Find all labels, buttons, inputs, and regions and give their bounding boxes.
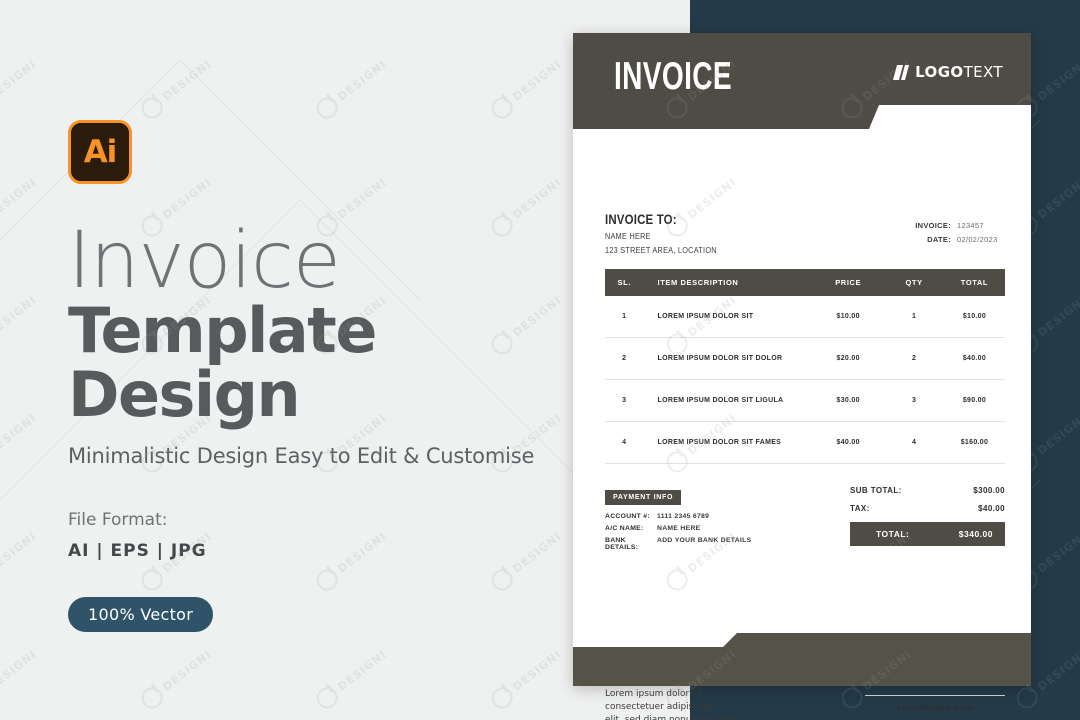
payment-bank-label: BANK DETAILS: xyxy=(605,537,657,551)
invoice-header: INVOICE LOGOTEXT xyxy=(573,33,1031,129)
payment-ac-name-value: NAME HERE xyxy=(657,525,701,532)
column-header-description: ITEM DESCRIPTION xyxy=(644,269,812,296)
cell-sl: 4 xyxy=(605,422,644,464)
line-items-body: 1 LOREM IPSUM DOLOR SIT $10.00 1 $10.00 … xyxy=(605,296,1005,464)
tax-value: $40.00 xyxy=(978,504,1005,513)
table-header-row: SL. ITEM DESCRIPTION PRICE QTY TOTAL xyxy=(605,269,1005,296)
terms-text: Lorem ipsum dolor sit consectetuer adipi… xyxy=(605,688,835,720)
cell-sl: 3 xyxy=(605,380,644,422)
cell-price: $20.00 xyxy=(812,338,884,380)
column-header-sl: SL. xyxy=(605,269,644,296)
brand-logo: LOGOTEXT xyxy=(893,63,1003,81)
table-row: 1 LOREM IPSUM DOLOR SIT $10.00 1 $10.00 xyxy=(605,296,1005,338)
invoice-number-row: INVOICE:123457 xyxy=(915,221,1005,230)
line-items-head: SL. ITEM DESCRIPTION PRICE QTY TOTAL xyxy=(605,269,1005,296)
cell-description: LOREM IPSUM DOLOR SIT LIGULA xyxy=(644,380,812,422)
column-header-total: TOTAL xyxy=(944,269,1005,296)
column-header-price: PRICE xyxy=(812,269,884,296)
invoice-footer-bar xyxy=(573,633,1031,686)
terms-line-2: consectetuer adipiscing xyxy=(605,701,835,714)
column-header-qty: QTY xyxy=(884,269,944,296)
cell-description: LOREM IPSUM DOLOR SIT xyxy=(644,296,812,338)
cell-price: $10.00 xyxy=(812,296,884,338)
brand-logo-text: LOGOTEXT xyxy=(915,63,1003,81)
subtotal-value: $300.00 xyxy=(973,486,1005,495)
promo-subtitle: Minimalistic Design Easy to Edit & Custo… xyxy=(68,444,588,468)
invoice-card: INVOICE LOGOTEXT INVOICE TO: NAME HERE 1… xyxy=(573,33,1031,686)
grand-total-row: TOTAL: $340.00 xyxy=(850,522,1005,546)
table-row: 2 LOREM IPSUM DOLOR SIT DOLOR $20.00 2 $… xyxy=(605,338,1005,380)
totals-block: SUB TOTAL: $300.00 TAX: $40.00 TOTAL: $3… xyxy=(850,486,1005,546)
cell-sl: 1 xyxy=(605,296,644,338)
tax-row: TAX: $40.00 xyxy=(850,504,1005,513)
table-row: 3 LOREM IPSUM DOLOR SIT LIGULA $30.00 3 … xyxy=(605,380,1005,422)
invoice-number-value: 123457 xyxy=(957,221,1005,230)
cell-description: LOREM IPSUM DOLOR SIT DOLOR xyxy=(644,338,812,380)
bill-to-block: INVOICE TO: NAME HERE 123 STREET AREA, L… xyxy=(605,211,1005,255)
invoice-header-title: INVOICE xyxy=(614,55,732,99)
tax-label: TAX: xyxy=(850,504,870,513)
bill-to-address: 123 STREET AREA, LOCATION xyxy=(605,245,949,255)
cell-total: $10.00 xyxy=(944,296,1005,338)
file-format-label: File Format: xyxy=(68,510,588,530)
terms-line-1: Lorem ipsum dolor sit xyxy=(605,688,835,701)
cell-price: $30.00 xyxy=(812,380,884,422)
grand-total-label: TOTAL: xyxy=(862,529,909,539)
invoice-date-label: DATE: xyxy=(927,235,951,244)
slash-mark-icon xyxy=(893,65,909,80)
invoice-date-value: 02/02/2023 xyxy=(957,235,1005,244)
payment-bank-value: ADD YOUR BANK DETAILS xyxy=(657,537,751,551)
subtotal-row: SUB TOTAL: $300.00 xyxy=(850,486,1005,495)
brand-logo-text-light: TEXT xyxy=(964,63,1003,81)
cell-qty: 3 xyxy=(884,380,944,422)
invoice-body: INVOICE TO: NAME HERE 123 STREET AREA, L… xyxy=(573,129,1031,576)
brand-logo-text-bold: LOGO xyxy=(915,63,963,81)
invoice-lower-section: PAYMENT INFO ACCOUNT #: 1111 2345 6789 A… xyxy=(605,486,1005,576)
promo-title-line-1: Invoice xyxy=(68,224,588,299)
cell-qty: 2 xyxy=(884,338,944,380)
bill-to-name: NAME HERE xyxy=(605,231,949,241)
payment-info-badge: PAYMENT INFO xyxy=(605,490,681,505)
file-format-value: AI | EPS | JPG xyxy=(68,541,588,561)
cell-price: $40.00 xyxy=(812,422,884,464)
adobe-illustrator-icon: Ai xyxy=(68,120,132,184)
payment-ac-name-label: A/C NAME: xyxy=(605,525,657,532)
cell-total: $160.00 xyxy=(944,422,1005,464)
adobe-illustrator-icon-label: Ai xyxy=(84,137,117,168)
terms-line-3: elit, sed diam nonummy amet, xyxy=(605,714,835,720)
signature-block: AUTHORISED SIGN xyxy=(865,695,1005,712)
invoice-meta: INVOICE:123457 DATE:02/02/2023 xyxy=(915,221,1005,249)
table-row: 4 LOREM IPSUM DOLOR SIT FAMES $40.00 4 $… xyxy=(605,422,1005,464)
screenshot-canvas: Ai Invoice Template Design Minimalistic … xyxy=(0,0,1080,720)
promo-panel: Ai Invoice Template Design Minimalistic … xyxy=(68,120,588,632)
subtotal-label: SUB TOTAL: xyxy=(850,486,902,495)
cell-total: $90.00 xyxy=(944,380,1005,422)
invoice-date-row: DATE:02/02/2023 xyxy=(915,235,1005,244)
payment-account-label: ACCOUNT #: xyxy=(605,513,657,520)
signature-label: AUTHORISED SIGN xyxy=(865,703,1005,712)
cell-description: LOREM IPSUM DOLOR SIT FAMES xyxy=(644,422,812,464)
cell-qty: 4 xyxy=(884,422,944,464)
line-items-table: SL. ITEM DESCRIPTION PRICE QTY TOTAL 1 L… xyxy=(605,269,1005,464)
promo-title-line-2: Template xyxy=(68,299,588,363)
cell-sl: 2 xyxy=(605,338,644,380)
cell-qty: 1 xyxy=(884,296,944,338)
invoice-number-label: INVOICE: xyxy=(915,221,951,230)
bill-to-title: INVOICE TO: xyxy=(605,211,933,227)
vector-badge: 100% Vector xyxy=(68,597,213,632)
promo-title-line-3: Design xyxy=(68,363,588,427)
cell-total: $40.00 xyxy=(944,338,1005,380)
signature-line xyxy=(865,695,1005,696)
grand-total-value: $340.00 xyxy=(959,529,993,539)
payment-account-value: 1111 2345 6789 xyxy=(657,513,709,520)
